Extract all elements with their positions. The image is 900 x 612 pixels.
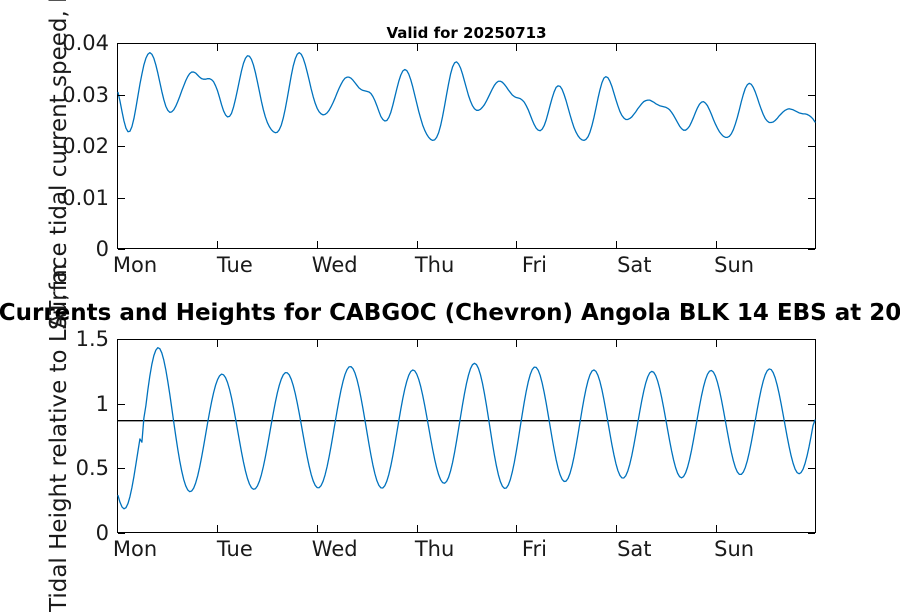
y-tick-label: 0.5 bbox=[0, 456, 109, 480]
x-tick-mark bbox=[217, 241, 218, 248]
tidal-height-line bbox=[118, 348, 815, 509]
x-tick-mark bbox=[317, 44, 318, 51]
x-tick-label: Tue bbox=[217, 537, 253, 561]
x-tick-label: Sun bbox=[714, 253, 754, 277]
y-tick-mark bbox=[808, 249, 815, 250]
x-tick-label: Mon bbox=[113, 253, 157, 277]
x-tick-mark bbox=[417, 241, 418, 248]
y-tick-mark bbox=[118, 339, 125, 340]
x-tick-label: Fri bbox=[522, 537, 547, 561]
x-tick-mark bbox=[217, 44, 218, 51]
x-tick-label: Thu bbox=[415, 537, 454, 561]
x-tick-label: Wed bbox=[312, 253, 358, 277]
y-tick-mark bbox=[808, 339, 815, 340]
tidal-forecast-figure: Valid for 20250713 Surface tidal current… bbox=[0, 0, 900, 600]
x-tick-mark bbox=[117, 44, 118, 51]
x-tick-label: Sat bbox=[617, 537, 651, 561]
bottom-chart-plot-area bbox=[117, 339, 816, 533]
y-tick-label: 1 bbox=[0, 392, 109, 416]
surface-current-speed-line bbox=[118, 53, 815, 141]
y-tick-mark bbox=[808, 43, 815, 44]
x-tick-label: Mon bbox=[113, 537, 157, 561]
x-tick-mark bbox=[616, 525, 617, 532]
x-tick-mark bbox=[616, 340, 617, 347]
x-tick-mark bbox=[417, 525, 418, 532]
x-tick-mark bbox=[117, 340, 118, 347]
top-chart-plot-area bbox=[117, 43, 816, 249]
main-figure-title: Currents and Heights for CABGOC (Chevron… bbox=[0, 300, 900, 326]
x-tick-label: Sat bbox=[617, 253, 651, 277]
y-tick-label: 0 bbox=[0, 237, 109, 261]
y-tick-mark bbox=[118, 43, 125, 44]
y-tick-mark bbox=[808, 146, 815, 147]
x-tick-label: Fri bbox=[522, 253, 547, 277]
top-chart-curve-canvas bbox=[118, 44, 815, 248]
bottom-chart-y-axis-title: Tidal Height relative to LAT, m bbox=[46, 264, 72, 612]
x-tick-mark bbox=[417, 340, 418, 347]
x-tick-mark bbox=[716, 525, 717, 532]
x-tick-mark bbox=[716, 241, 717, 248]
x-tick-mark bbox=[716, 340, 717, 347]
y-tick-mark bbox=[118, 533, 125, 534]
bottom-chart-curve-canvas bbox=[118, 340, 815, 532]
y-tick-mark bbox=[118, 146, 125, 147]
x-tick-mark bbox=[417, 44, 418, 51]
y-tick-label: 0.04 bbox=[0, 31, 109, 55]
y-tick-mark bbox=[808, 468, 815, 469]
x-tick-mark bbox=[516, 340, 517, 347]
y-tick-label: 0.01 bbox=[0, 186, 109, 210]
x-tick-mark bbox=[516, 525, 517, 532]
x-tick-mark bbox=[516, 44, 517, 51]
y-tick-label: 0 bbox=[0, 521, 109, 545]
x-tick-mark bbox=[716, 44, 717, 51]
y-tick-mark bbox=[808, 95, 815, 96]
x-tick-mark bbox=[317, 340, 318, 347]
y-tick-mark bbox=[808, 533, 815, 534]
x-tick-label: Thu bbox=[415, 253, 454, 277]
x-tick-mark bbox=[516, 241, 517, 248]
x-tick-label: Tue bbox=[217, 253, 253, 277]
y-tick-mark bbox=[808, 198, 815, 199]
x-tick-label: Wed bbox=[312, 537, 358, 561]
y-tick-label: 1.5 bbox=[0, 327, 109, 351]
x-tick-label: Sun bbox=[714, 537, 754, 561]
y-tick-label: 0.02 bbox=[0, 134, 109, 158]
y-tick-mark bbox=[118, 404, 125, 405]
x-tick-mark bbox=[117, 241, 118, 248]
y-tick-mark bbox=[118, 468, 125, 469]
y-tick-mark bbox=[118, 249, 125, 250]
y-tick-mark bbox=[118, 95, 125, 96]
x-tick-mark bbox=[317, 241, 318, 248]
x-tick-mark bbox=[217, 340, 218, 347]
x-tick-mark bbox=[317, 525, 318, 532]
x-tick-mark bbox=[217, 525, 218, 532]
y-tick-label: 0.03 bbox=[0, 83, 109, 107]
y-tick-mark bbox=[808, 404, 815, 405]
x-tick-mark bbox=[616, 241, 617, 248]
x-tick-mark bbox=[616, 44, 617, 51]
x-tick-mark bbox=[117, 525, 118, 532]
top-chart-title: Valid for 20250713 bbox=[117, 24, 816, 42]
y-tick-mark bbox=[118, 198, 125, 199]
